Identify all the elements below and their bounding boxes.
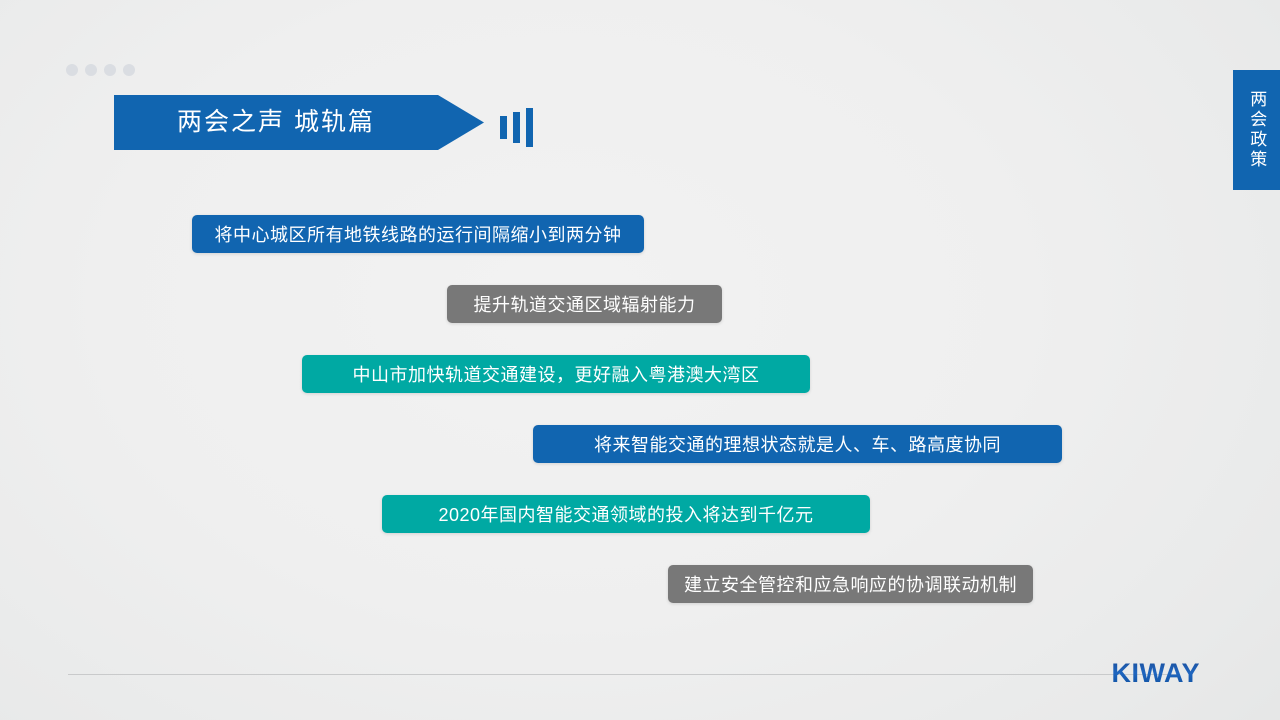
statement-bar: 2020年国内智能交通领域的投入将达到千亿元 — [382, 495, 870, 533]
statement-bar-label: 2020年国内智能交通领域的投入将达到千亿元 — [438, 501, 813, 527]
statement-bar-label: 将来智能交通的理想状态就是人、车、路高度协同 — [594, 431, 1001, 457]
kiway-logo: KIWAY — [1111, 660, 1200, 687]
footer-divider — [68, 674, 1178, 675]
slide-canvas: 两会之声 城轨篇 两会政策 将中心城区所有地铁线路的运行间隔缩小到两分钟提升轨道… — [0, 0, 1280, 720]
statement-bar: 建立安全管控和应急响应的协调联动机制 — [668, 565, 1033, 603]
statement-bar-label: 中山市加快轨道交通建设，更好融入粤港澳大湾区 — [353, 361, 760, 387]
statement-bar-label: 建立安全管控和应急响应的协调联动机制 — [684, 571, 1017, 597]
statement-bar-label: 提升轨道交通区域辐射能力 — [474, 291, 696, 317]
statement-bar: 中山市加快轨道交通建设，更好融入粤港澳大湾区 — [302, 355, 810, 393]
statement-bar: 将来智能交通的理想状态就是人、车、路高度协同 — [533, 425, 1062, 463]
statement-bar: 提升轨道交通区域辐射能力 — [447, 285, 722, 323]
statement-bar: 将中心城区所有地铁线路的运行间隔缩小到两分钟 — [192, 215, 644, 253]
statement-bar-label: 将中心城区所有地铁线路的运行间隔缩小到两分钟 — [215, 221, 622, 247]
statement-bar-list: 将中心城区所有地铁线路的运行间隔缩小到两分钟提升轨道交通区域辐射能力中山市加快轨… — [0, 0, 1280, 720]
